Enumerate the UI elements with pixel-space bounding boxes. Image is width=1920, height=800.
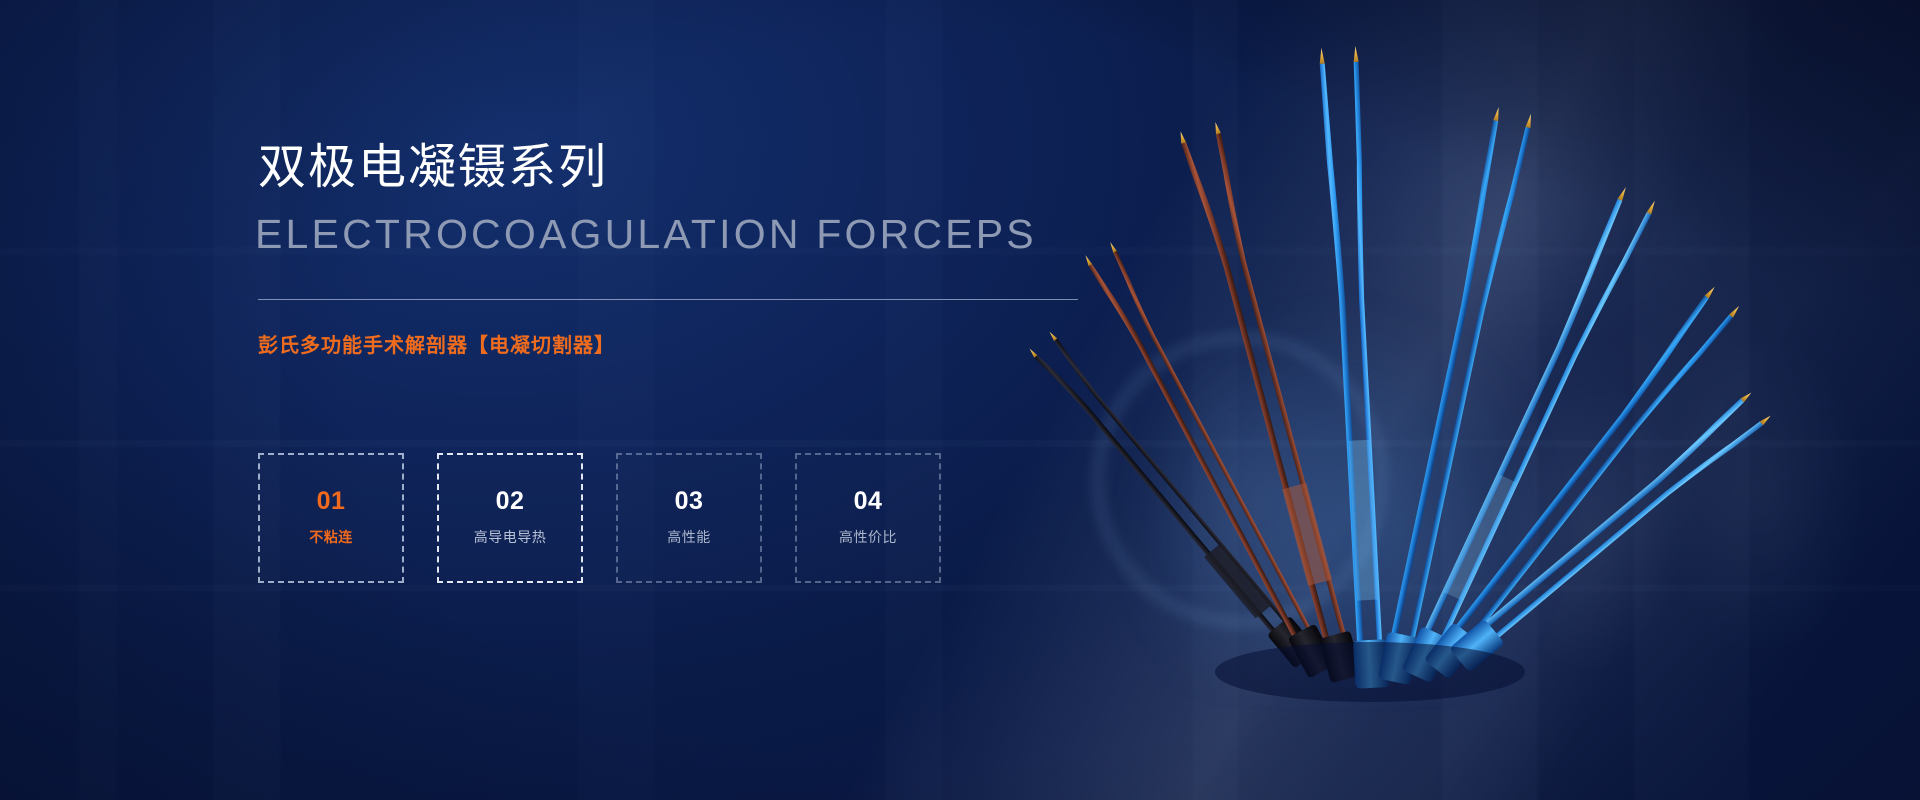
- banner-content: 双极电凝镊系列 ELECTROCOAGULATION FORCEPS 彭氏多功能…: [258, 0, 1158, 800]
- forceps-3: [1178, 121, 1366, 684]
- feature-list: 01 不粘连 02 高导电导热 03 高性能 04 高性价比: [258, 453, 941, 583]
- feature-caption: 高性能: [667, 530, 711, 544]
- title-divider: [258, 299, 1078, 300]
- feature-item-04[interactable]: 04 高性价比: [795, 453, 941, 583]
- feature-item-02[interactable]: 02 高导电导热: [437, 453, 583, 583]
- product-subtitle: 彭氏多功能手术解剖器【电凝切割器】: [258, 336, 615, 356]
- product-banner: 双极电凝镊系列 ELECTROCOAGULATION FORCEPS 彭氏多功能…: [0, 0, 1920, 800]
- feature-number: 01: [317, 489, 346, 514]
- feature-item-03[interactable]: 03 高性能: [616, 453, 762, 583]
- feature-caption: 高导电导热: [474, 530, 547, 544]
- page-title-en: ELECTROCOAGULATION FORCEPS: [255, 214, 1037, 255]
- page-title-cn: 双极电凝镊系列: [258, 144, 608, 192]
- feature-item-01[interactable]: 01 不粘连: [258, 453, 404, 583]
- feature-number: 03: [675, 489, 704, 514]
- feature-number: 02: [496, 489, 525, 514]
- feature-caption: 不粘连: [309, 530, 353, 544]
- forceps-5: [1375, 106, 1534, 685]
- feature-caption: 高性价比: [839, 530, 897, 544]
- feature-number: 04: [854, 489, 883, 514]
